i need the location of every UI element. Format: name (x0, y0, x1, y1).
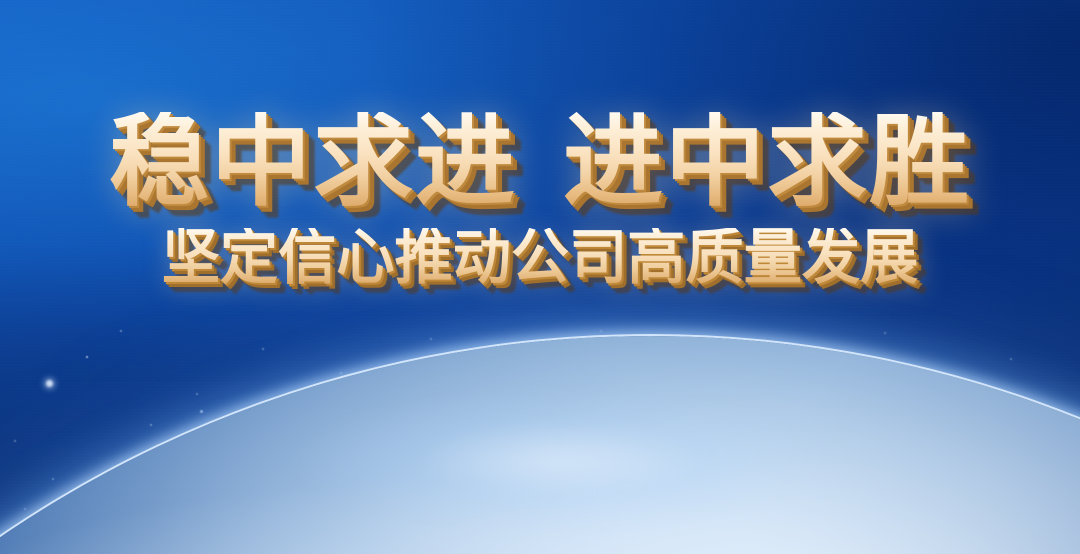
banner-text-block: 稳中求进进中求胜 坚定信心推动公司高质量发展 (0, 112, 1080, 288)
banner-poster: 稳中求进进中求胜 坚定信心推动公司高质量发展 (0, 0, 1080, 554)
headline-phrase-1: 稳中求进 (109, 106, 517, 218)
earth-globe (0, 254, 1080, 554)
page-headline: 稳中求进进中求胜 (0, 112, 1080, 212)
headline-phrase-2: 进中求胜 (563, 106, 971, 218)
earth-sphere (0, 336, 1080, 554)
page-subheadline: 坚定信心推动公司高质量发展 (16, 228, 1064, 288)
